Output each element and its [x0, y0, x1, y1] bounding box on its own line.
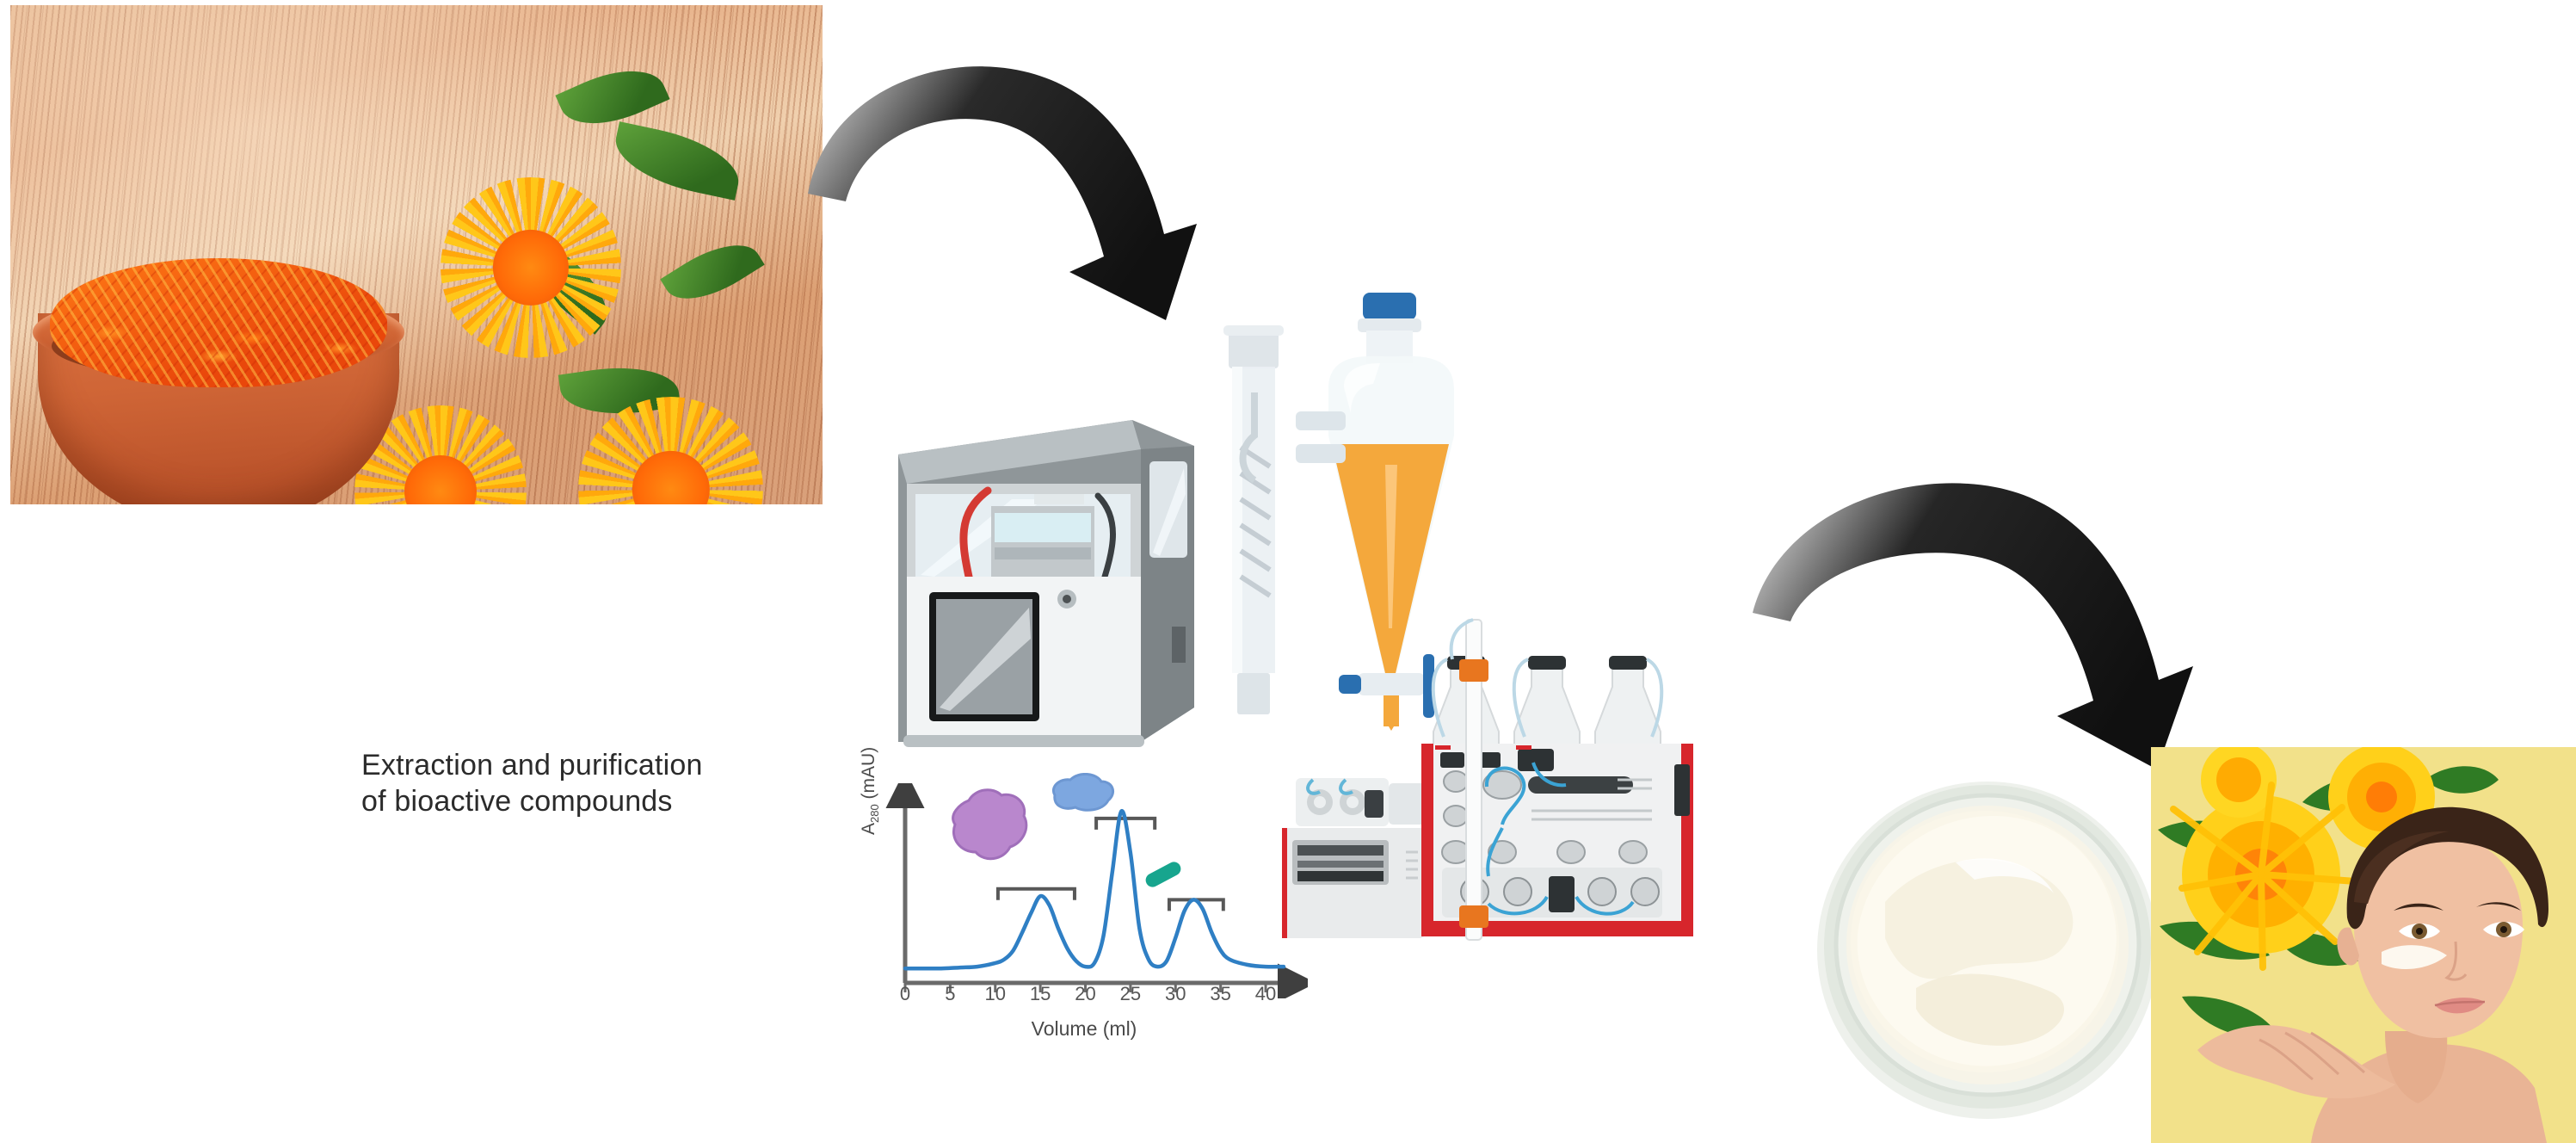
model-photo: [2151, 747, 2576, 1143]
molecule-blob-blue: [1046, 773, 1117, 814]
cream-jar: [1803, 757, 2172, 1128]
x-tick-label: 40: [1255, 983, 1276, 1005]
x-tick-label: 15: [1030, 983, 1051, 1005]
x-tick-label: 25: [1120, 983, 1141, 1005]
safflower-bloom: [441, 177, 621, 358]
x-tick-label: 10: [985, 983, 1006, 1005]
terracotta-bowl: [38, 279, 399, 504]
safflower-photo: [10, 5, 823, 504]
molecule-blob-purple: [943, 785, 1032, 864]
coil-condenser: [1215, 318, 1292, 723]
x-tick-label: 0: [900, 983, 910, 1005]
process-caption-line-2: of bioactive compounds: [361, 783, 843, 819]
process-caption: Extraction and purification of bioactive…: [361, 747, 843, 819]
arrow-source-to-process: [796, 17, 1209, 353]
x-tick-label: 5: [945, 983, 955, 1005]
fplc-system: [1402, 602, 1712, 947]
process-caption-line-1: Extraction and purification: [361, 747, 843, 783]
molecule-blob-teal: [1141, 856, 1186, 890]
x-tick-label: 20: [1075, 983, 1095, 1005]
x-tick-label: 35: [1210, 983, 1230, 1005]
extraction-instrument: [883, 405, 1210, 757]
chromatogram-plot: [860, 783, 1308, 998]
chart-x-axis-label: Volume (ml): [860, 1017, 1308, 1041]
chart-x-tick-labels: 0510152025303540: [860, 983, 1308, 1009]
fraction-bracket: [998, 889, 1075, 899]
chromatogram-chart: A280 (mAU) 0510152025303540 Volume (ml): [860, 783, 1308, 1059]
x-tick-label: 30: [1165, 983, 1186, 1005]
dried-safflower-petals: [50, 258, 387, 387]
flower-core: [493, 230, 569, 306]
